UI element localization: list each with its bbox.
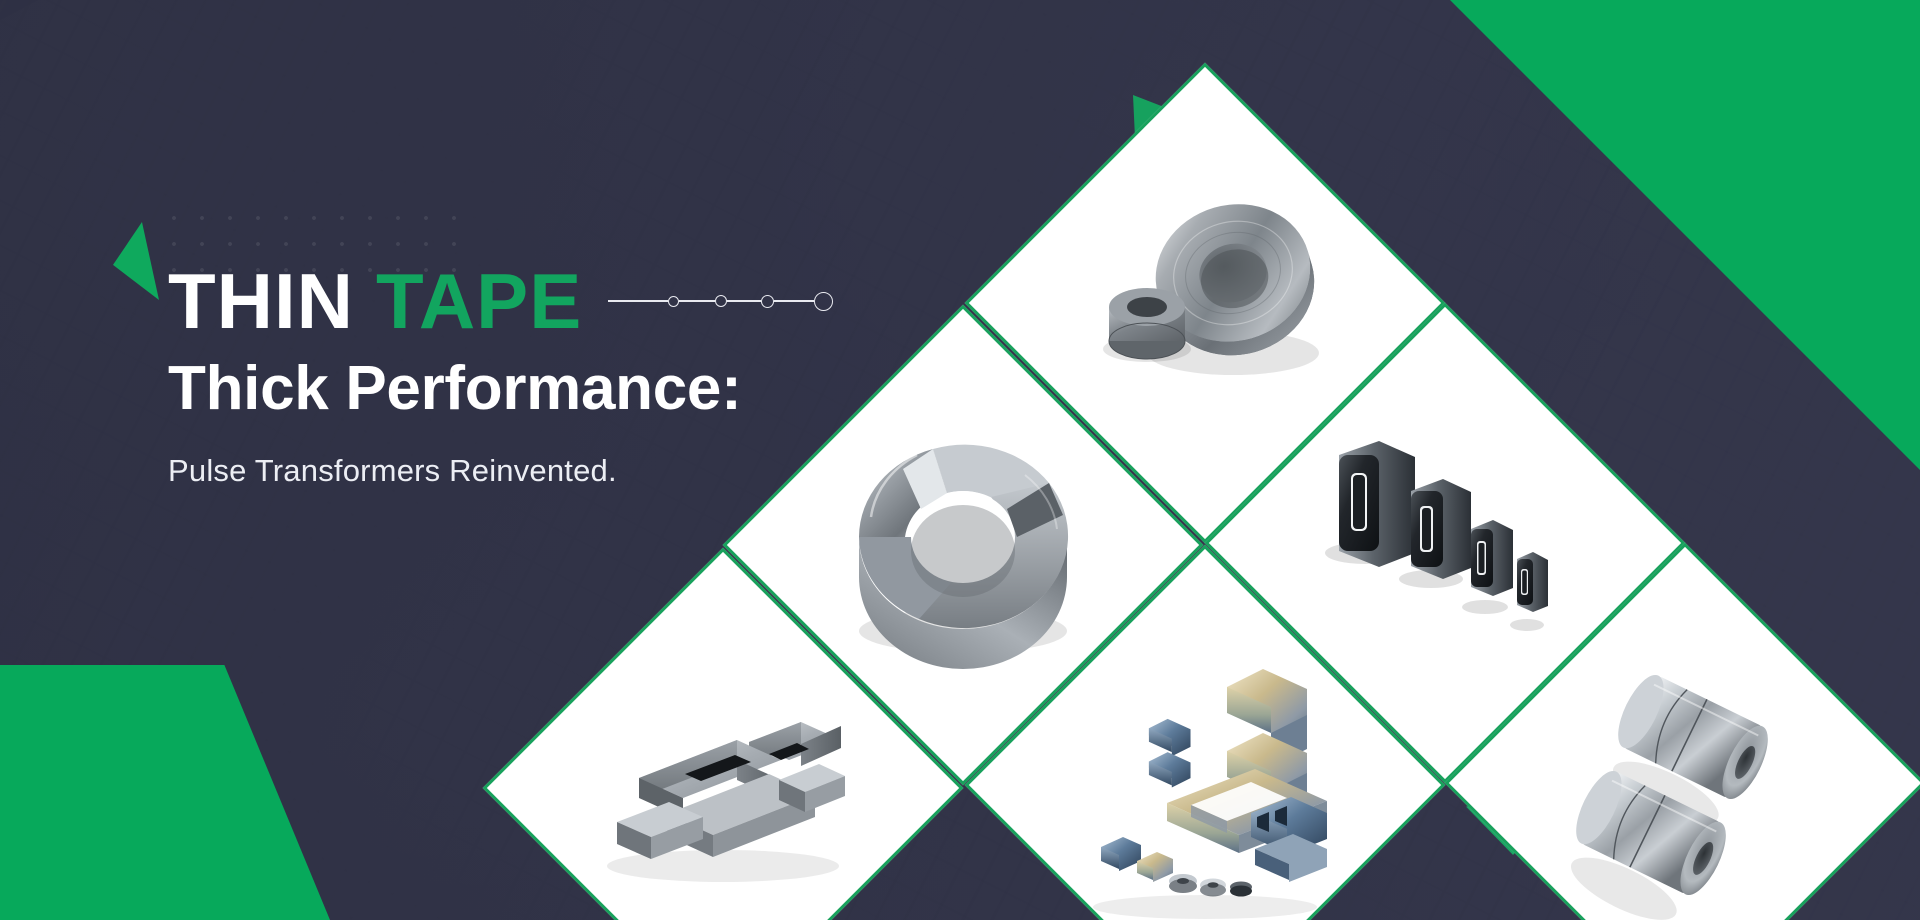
hero-banner: THIN TAPE Thick Performance: Pulse Trans… (0, 0, 1920, 920)
i-bar-core-set-image (573, 638, 873, 920)
product-diamond-mosaic (745, 55, 1895, 915)
assorted-core-assembly-image (1055, 635, 1355, 920)
connector-dot-1-icon (668, 296, 679, 307)
connector-segment (608, 300, 668, 302)
mosaic-tile-inner (796, 378, 1130, 712)
mosaic-tile-inner (1518, 616, 1852, 920)
connector-segment (679, 300, 715, 302)
c-core-ring-image (813, 395, 1113, 695)
black-rectangular-cores-image (1295, 393, 1595, 693)
mosaic-tile-inner (1278, 376, 1612, 710)
headline-word-primary: THIN (168, 262, 354, 340)
toroid-cores-image (1055, 153, 1355, 453)
mosaic-tile-inner (1038, 618, 1372, 920)
mosaic-tile-inner (556, 621, 890, 920)
headline-word-accent: TAPE (376, 262, 582, 340)
connector-dot-2-icon (715, 295, 727, 307)
cut-cylinder-cores-image (1535, 633, 1835, 920)
mosaic-tile-inner (1038, 136, 1372, 470)
